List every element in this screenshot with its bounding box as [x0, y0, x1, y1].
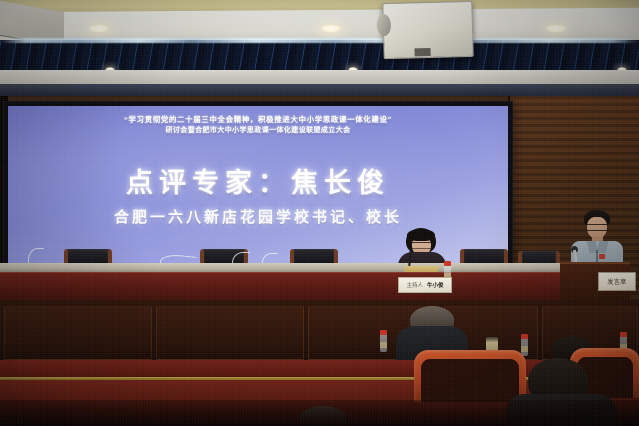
bottle-label [380, 342, 387, 348]
bottle-cap [380, 330, 387, 335]
water-bottle [380, 334, 387, 352]
slide-title: 点评专家：焦长俊 [8, 161, 508, 200]
ceiling-downlight [88, 24, 110, 33]
placard-name-label: 牛小俊 [427, 281, 444, 289]
wall-panel [4, 306, 152, 360]
slide-subtitle: 合肥一六八新店花园学校书记、校长 [8, 206, 508, 227]
conference-hall-photo: “学习贯彻党的二十届三中全会精神，积极推进大中小学思政课一体化建设” 研讨会暨合… [0, 0, 639, 426]
glasses-icon [411, 242, 432, 249]
audience-chair-seat [421, 359, 519, 402]
ceiling-downlight [320, 24, 342, 33]
podium-sign: 发言席 [598, 272, 636, 291]
ceiling-projector [382, 1, 473, 59]
wall-panel [156, 306, 304, 360]
slide-header-line-1: “学习贯彻党的二十届三中全会精神，积极推进大中小学思政课一体化建设” [8, 114, 508, 125]
ceiling-downlight [545, 24, 567, 33]
name-placard: 主持人 牛小俊 [398, 277, 452, 293]
speaker-badge [599, 254, 605, 259]
ceiling-light-strip [0, 38, 639, 43]
glasses-icon [586, 224, 608, 231]
bottle-cap [620, 332, 627, 337]
bottle-label [521, 346, 528, 352]
audience-chair [414, 350, 526, 402]
slide-header-line-2: 研讨会暨合肥市大中小学思政课一体化建设联盟成立大会 [8, 125, 508, 135]
host-fringe [407, 229, 435, 241]
projector-mount [414, 48, 430, 56]
bottle-cap [521, 334, 528, 339]
projector-lens-icon [377, 14, 392, 36]
ceiling-slat-panel [0, 40, 639, 72]
placard-role-label: 主持人 [406, 281, 423, 289]
bottle-cap [444, 261, 451, 266]
foreground-shadow [0, 400, 639, 426]
